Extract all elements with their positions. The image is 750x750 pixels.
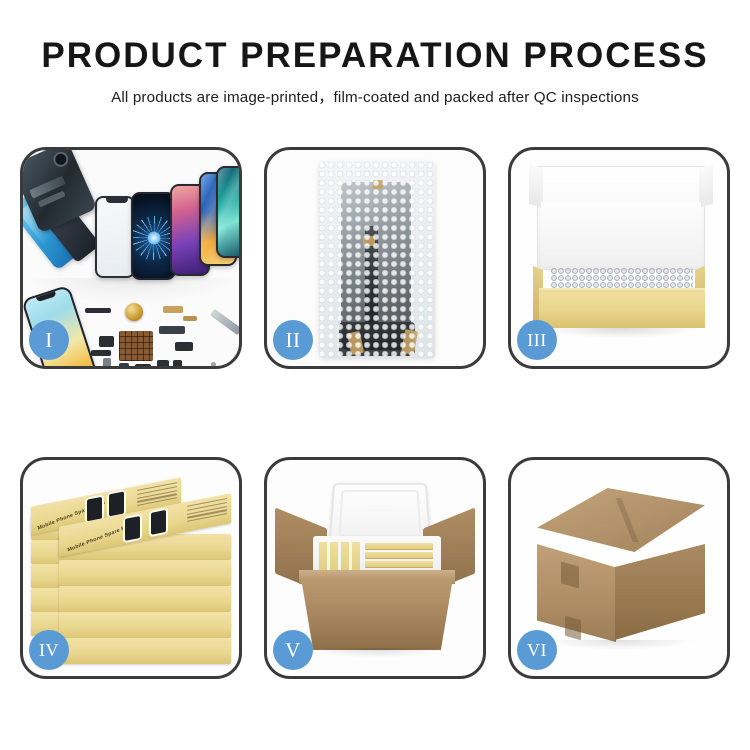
process-step-panel-2: II (264, 147, 486, 369)
chip-grid-icon (119, 331, 153, 361)
component-block-2 (135, 364, 151, 366)
process-step-panel-4: Mobile Phone Spare Parts Mobile Phone Sp… (20, 457, 242, 679)
stacked-box (59, 638, 231, 664)
carton-tape-patch (565, 616, 581, 641)
connector-gold-small (183, 316, 197, 321)
component-block-6 (103, 358, 111, 366)
wallpaper-core (147, 231, 160, 244)
stacked-box (59, 612, 231, 638)
phone-display-teal-icon (216, 166, 239, 258)
sealed-carton-top (537, 488, 705, 552)
packed-box (365, 561, 433, 568)
label-spec-lines (187, 498, 227, 525)
component-bar (85, 308, 111, 313)
carton-body-icon (301, 578, 453, 650)
label-phone-thumb (151, 510, 166, 535)
sealed-carton-right-face (615, 544, 705, 640)
carton-shadow (545, 640, 695, 650)
flex-cable-icon (159, 326, 185, 334)
bubble-texture (319, 162, 435, 358)
step-badge-2: II (273, 320, 313, 360)
header: PRODUCT PREPARATION PROCESS All products… (0, 0, 750, 107)
label-phone-thumb (125, 516, 140, 541)
step-badge-5: V (273, 630, 313, 670)
yellow-box-base-icon (539, 292, 705, 328)
camera-lens-icon (51, 150, 71, 169)
stacked-box (59, 560, 231, 586)
foam-insert (541, 202, 701, 266)
page-title: PRODUCT PREPARATION PROCESS (0, 38, 750, 75)
step-badge-6: VI (517, 630, 557, 670)
component-block (99, 336, 114, 347)
process-step-panel-1: I (20, 147, 242, 369)
process-step-panel-6: VI (508, 457, 730, 679)
step-badge-3: III (517, 320, 557, 360)
step-badge-1: I (29, 320, 69, 360)
packed-box (365, 543, 433, 550)
component-block-3 (157, 360, 169, 366)
tweezers-icon (210, 309, 239, 335)
bubble-wrap-bag-icon (319, 162, 435, 358)
screw-icon (211, 362, 216, 366)
connector-gold (163, 306, 183, 313)
page-subtitle: All products are image-printed，film-coat… (0, 85, 750, 107)
label-phone-thumb (109, 492, 124, 517)
carton-shadow (313, 648, 441, 658)
component-tall (119, 363, 129, 366)
component-bar-2 (91, 350, 111, 356)
box-shadow (545, 328, 697, 338)
stacked-box (59, 586, 231, 612)
coil-component-icon (125, 303, 143, 321)
step-badge-4: IV (29, 630, 69, 670)
process-step-panel-3: III (508, 147, 730, 369)
packed-box (365, 552, 433, 559)
process-step-panel-5: V (264, 457, 486, 679)
component-block-5 (173, 360, 182, 366)
screen-protector-icon (95, 196, 135, 278)
process-steps-grid: I II (20, 147, 730, 682)
product-preparation-infographic: PRODUCT PREPARATION PROCESS All products… (0, 0, 750, 750)
component-block-4 (175, 342, 193, 351)
